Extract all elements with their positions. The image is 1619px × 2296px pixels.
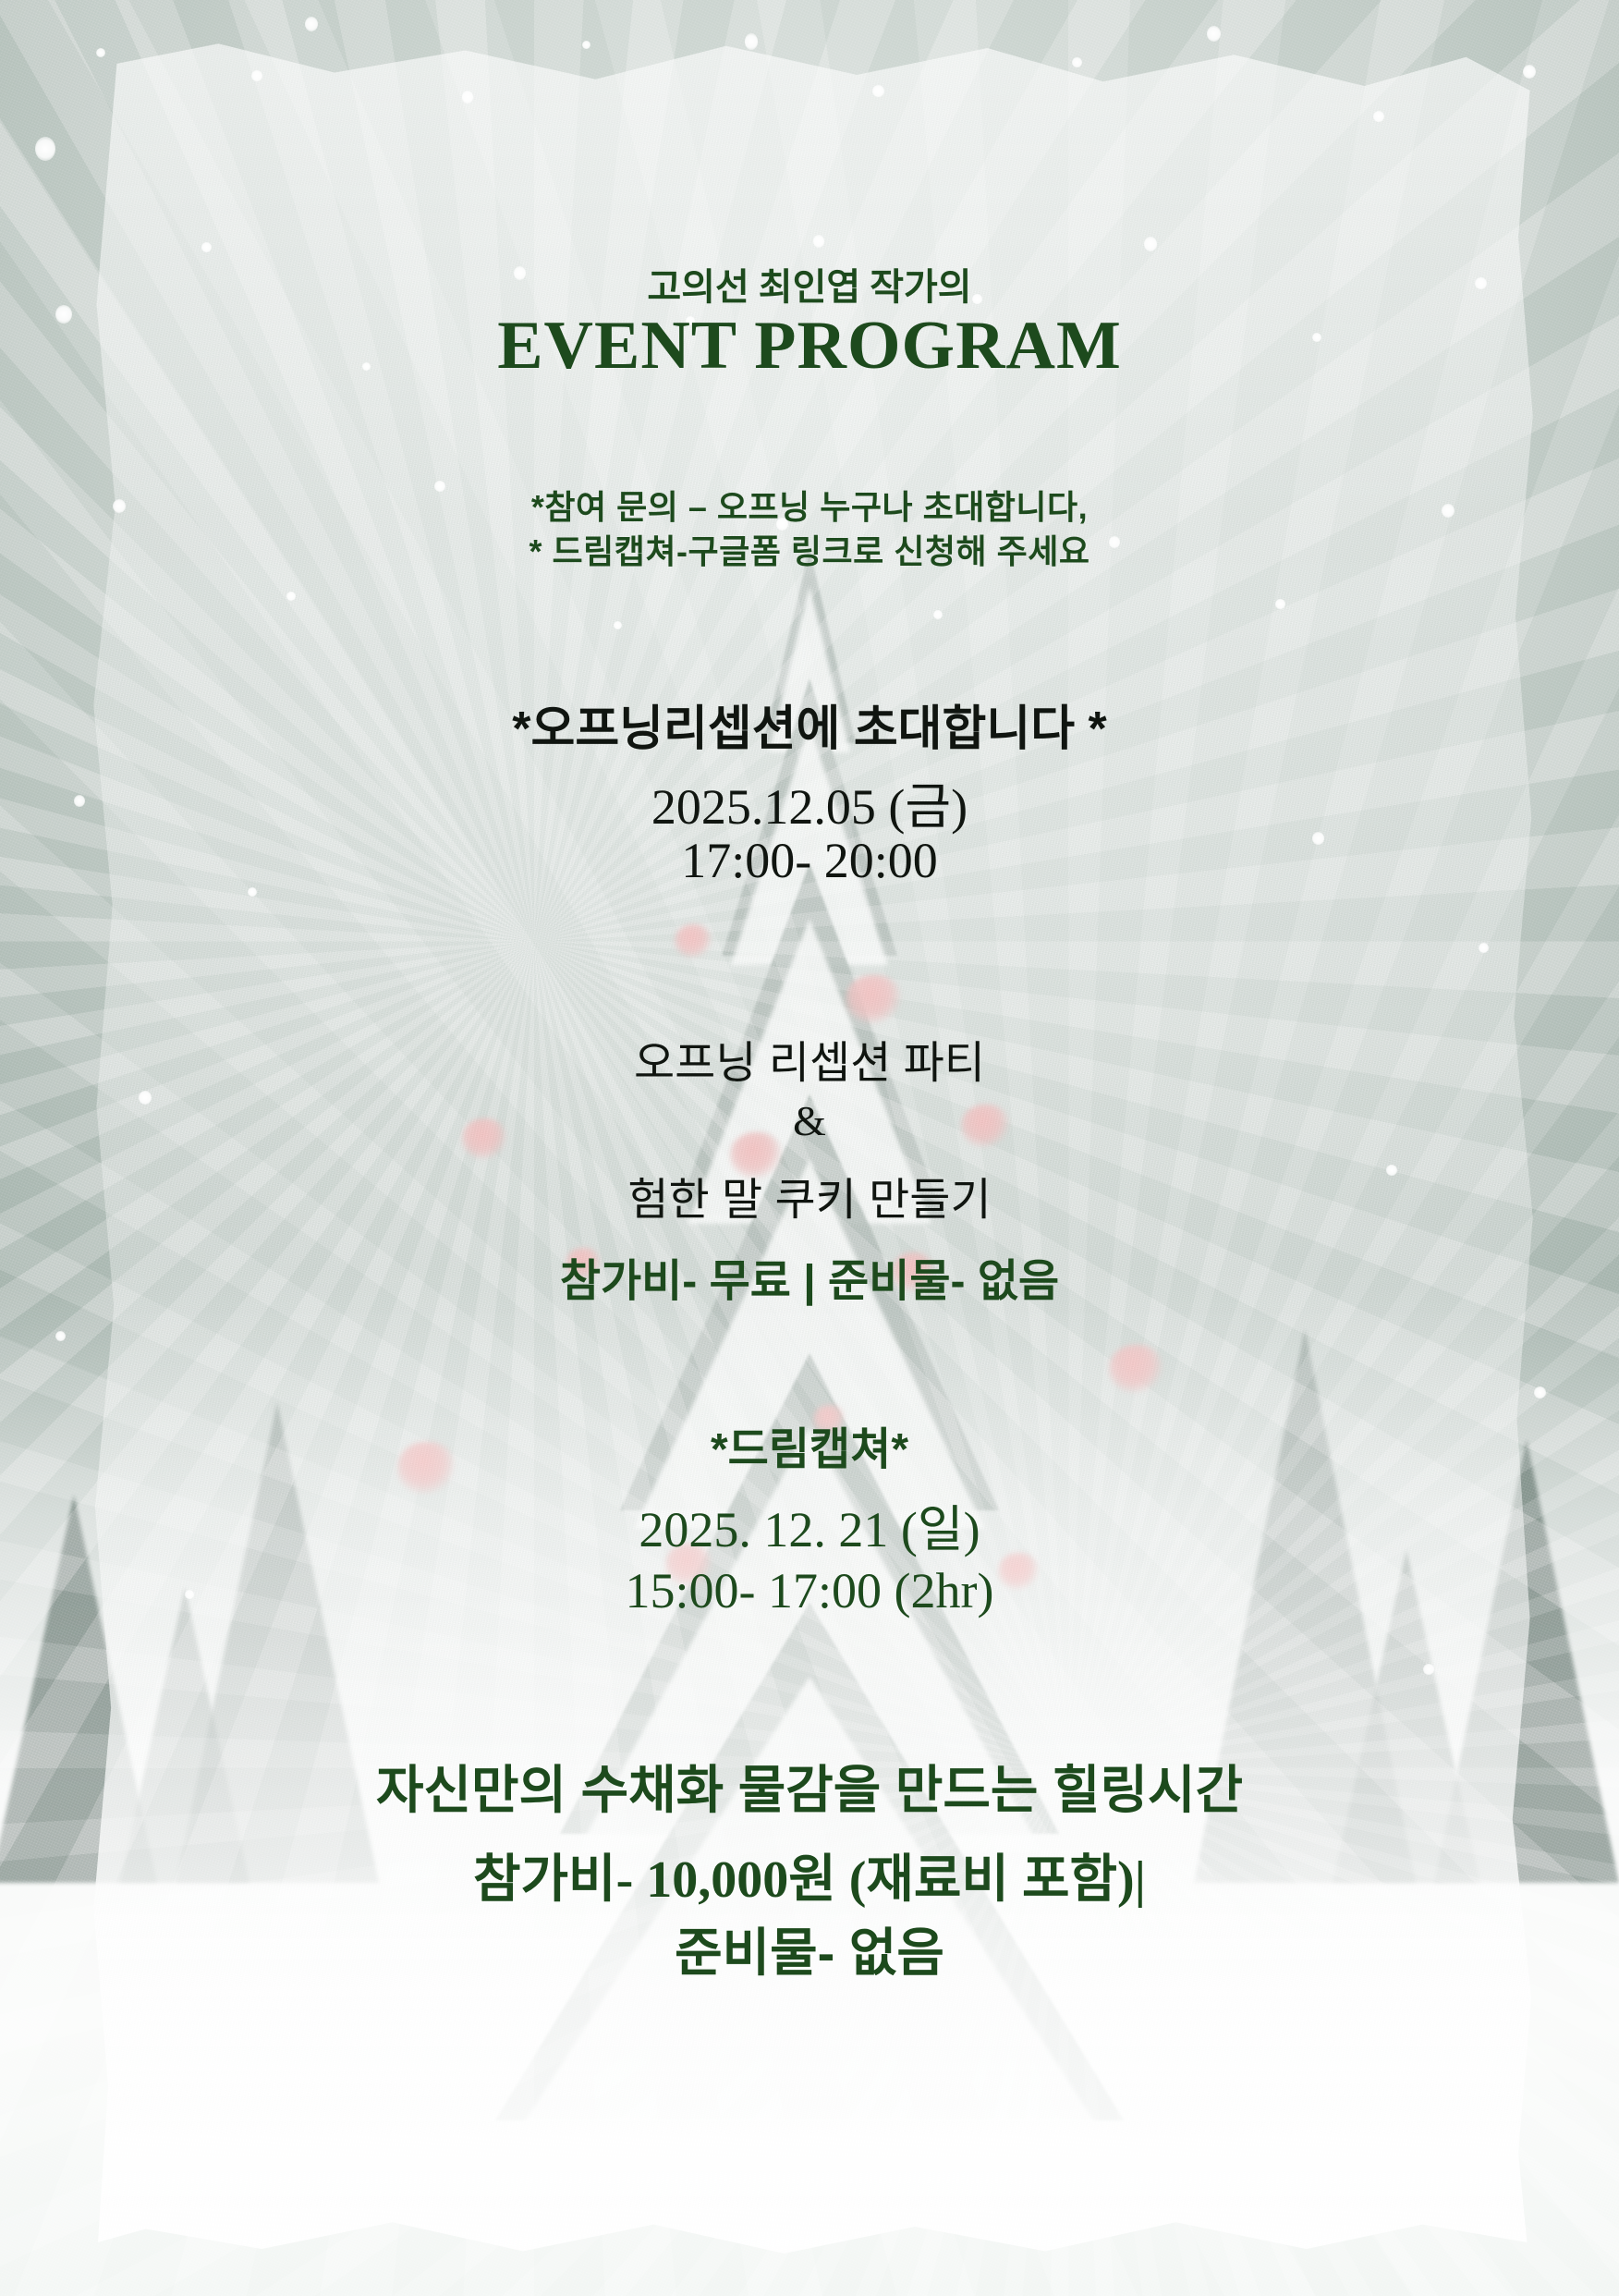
dream-date: 2025. 12. 21 (일): [0, 1488, 1619, 1561]
author-line: 고의선 최인엽 작가의: [0, 257, 1619, 311]
poster-canvas: 고의선 최인엽 작가의 EVENT PROGRAM *참여 문의 – 오프닝 누…: [0, 0, 1619, 2296]
dream-description: 자신만의 수채화 물감을 만드는 힐링시간: [0, 1749, 1619, 1824]
opening-activity-line-2: 험한 말 쿠키 만들기: [0, 1163, 1619, 1227]
ampersand-separator: &: [0, 1096, 1619, 1145]
poster-title: EVENT PROGRAM: [0, 307, 1619, 385]
dream-prep-line: 준비물- 없음: [0, 1911, 1619, 1986]
dream-time: 15:00- 17:00 (2hr): [0, 1562, 1619, 1619]
note-line-2: * 드림캡쳐-구글폼 링크로 신청해 주세요: [0, 525, 1619, 573]
opening-date: 2025.12.05 (금): [0, 765, 1619, 838]
opening-fee-line: 참가비- 무료 | 준비물- 없음: [0, 1244, 1619, 1309]
poster-text-content: 고의선 최인엽 작가의 EVENT PROGRAM *참여 문의 – 오프닝 누…: [0, 0, 1619, 2296]
opening-heading: *오프닝리셉션에 초대합니다 *: [0, 690, 1619, 759]
note-line-1: *참여 문의 – 오프닝 누구나 초대합니다,: [0, 481, 1619, 529]
opening-activity-line-1: 오프닝 리셉션 파티: [0, 1026, 1619, 1091]
dream-fee-line: 참가비- 10,000원 (재료비 포함)|: [0, 1838, 1619, 1912]
dream-heading: *드림캡쳐*: [0, 1412, 1619, 1477]
opening-time: 17:00- 20:00: [0, 832, 1619, 889]
